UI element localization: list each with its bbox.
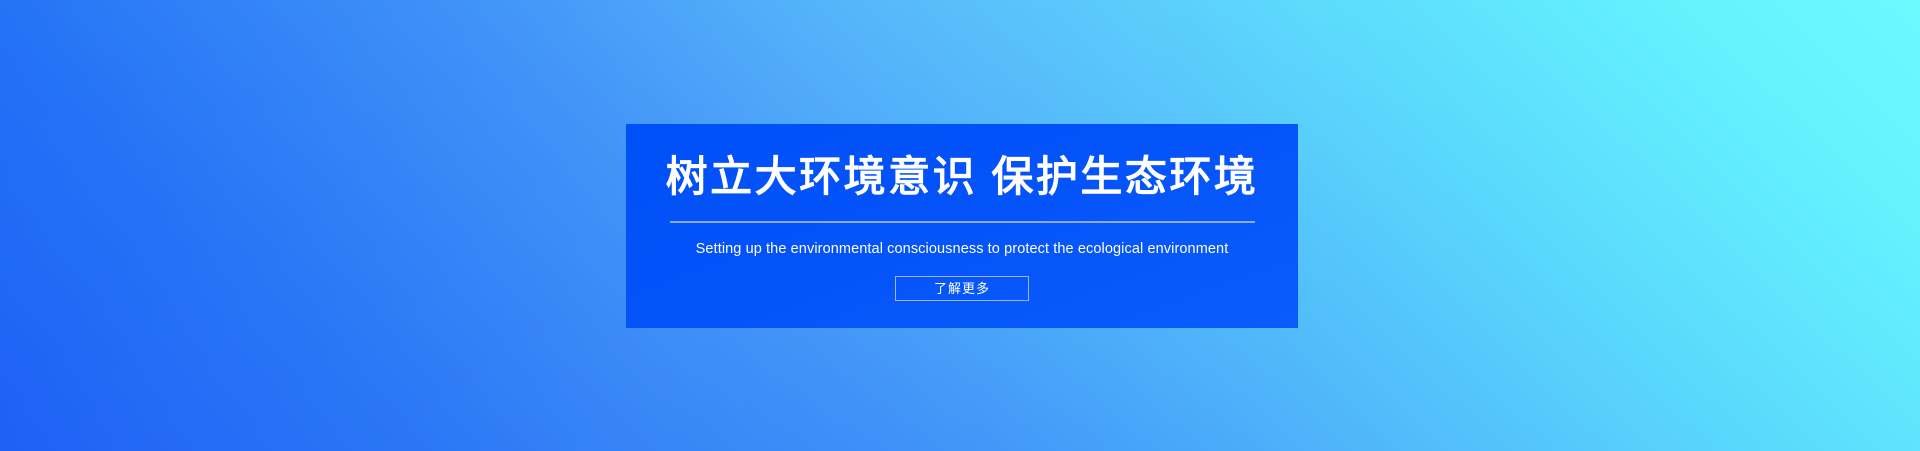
page-subtitle: Setting up the environmental consciousne… <box>696 241 1229 258</box>
page-title: 树立大环境意识 保护生态环境 <box>666 156 1259 198</box>
learn-more-button[interactable]: 了解更多 <box>895 276 1029 301</box>
hero-banner: 树立大环境意识 保护生态环境 Setting up the environmen… <box>0 0 1920 451</box>
title-divider <box>670 221 1255 223</box>
hero-content-card: 树立大环境意识 保护生态环境 Setting up the environmen… <box>626 124 1298 328</box>
